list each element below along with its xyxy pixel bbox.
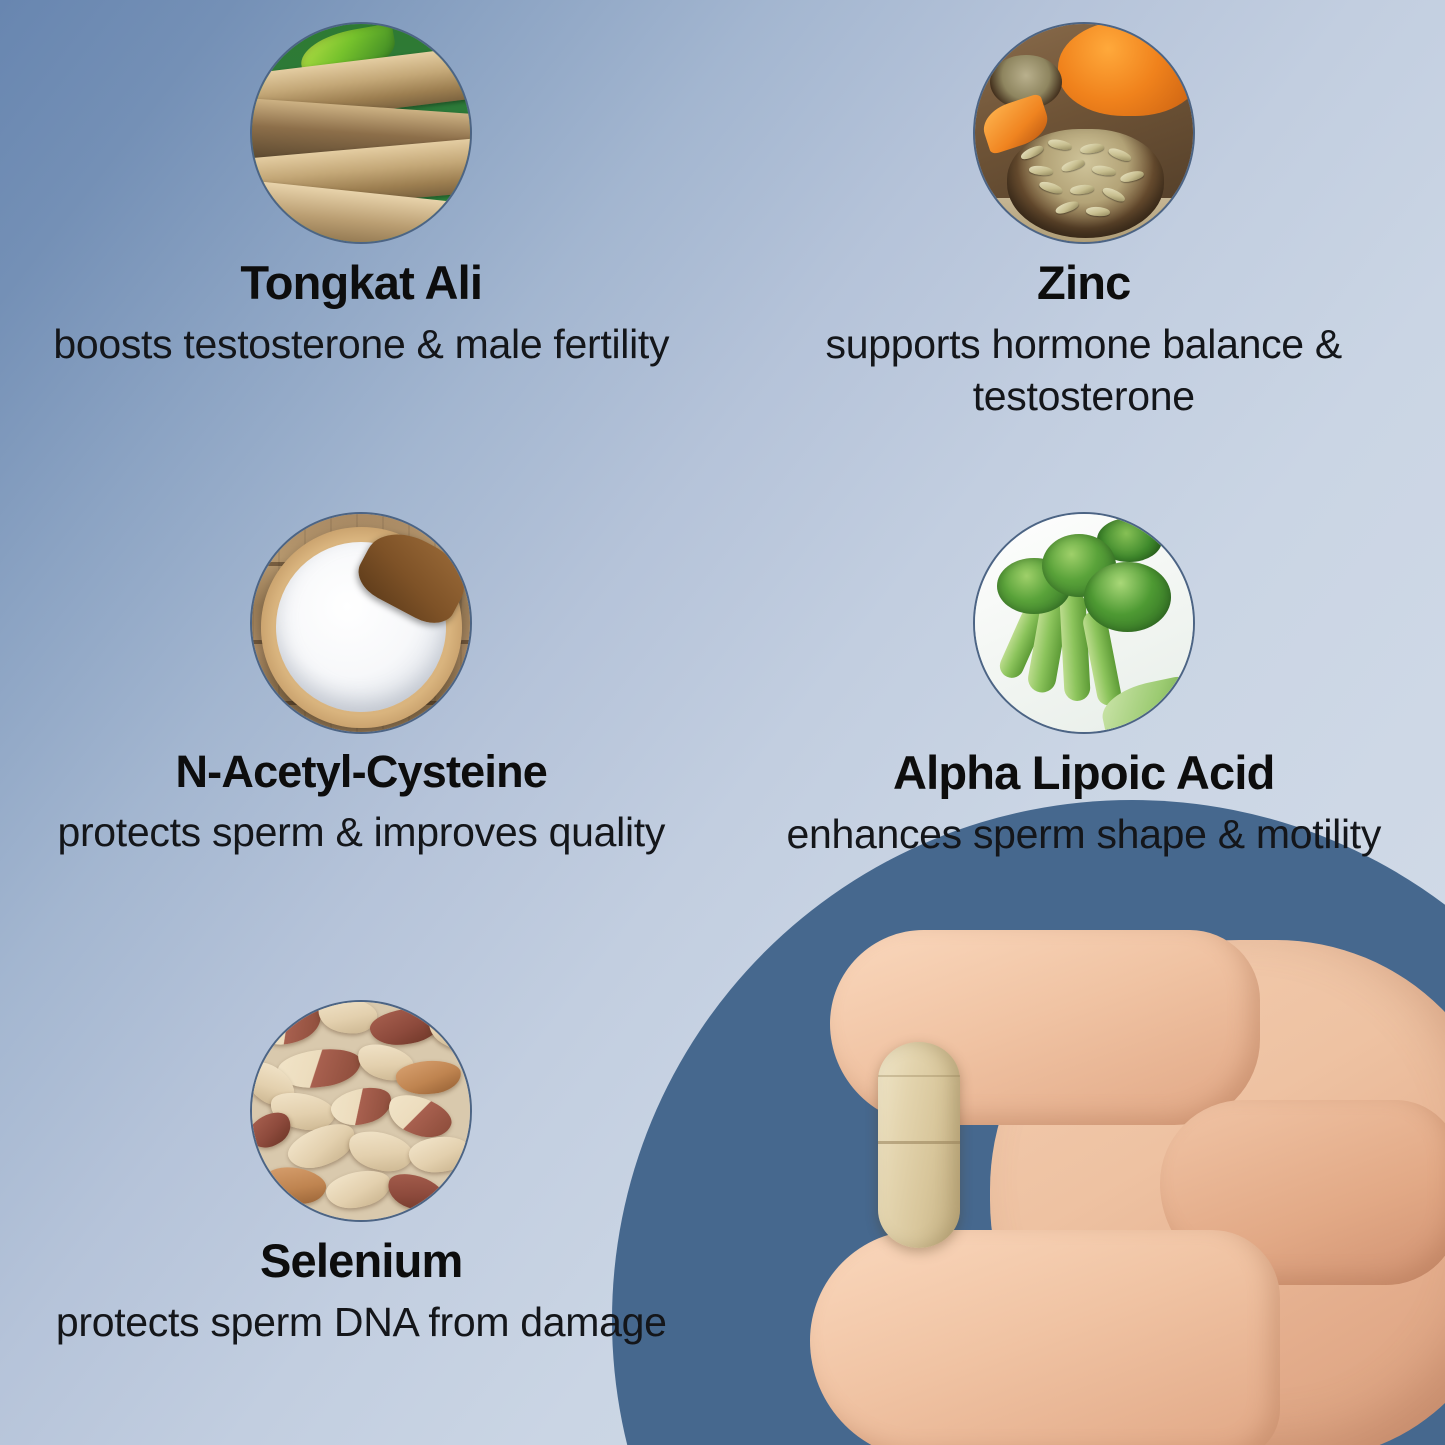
ingredient-name: Alpha Lipoic Acid [893, 749, 1275, 797]
broccoli-art [975, 514, 1193, 732]
zinc-image [973, 22, 1195, 244]
tongkat-ali-root-art [252, 24, 470, 242]
ingredient-name: N-Acetyl-Cysteine [175, 749, 547, 795]
ingredient-description: boosts testosterone & male fertility [53, 318, 669, 370]
tongkat-ali-image [250, 22, 472, 244]
ingredient-card-alpha-lipoic-acid: Alpha Lipoic Acid enhances sperm shape &… [723, 490, 1445, 978]
ingredient-card-zinc: Zinc supports hormone balance & testoste… [723, 0, 1445, 490]
ingredient-name: Tongkat Ali [240, 259, 482, 307]
pumpkin-seeds-art [975, 24, 1193, 242]
product-photo-cell [723, 978, 1445, 1445]
ingredient-card-tongkat-ali: Tongkat Ali boosts testosterone & male f… [0, 0, 723, 490]
alpha-lipoic-acid-image [973, 512, 1195, 734]
ingredient-card-selenium: Selenium protects sperm DNA from damage [0, 978, 723, 1445]
selenium-image [250, 1000, 472, 1222]
ingredient-card-n-acetyl-cysteine: N-Acetyl-Cysteine protects sperm & impro… [0, 490, 723, 978]
ingredient-infographic-poster: Tongkat Ali boosts testosterone & male f… [0, 0, 1445, 1445]
white-powder-bowl-art [252, 514, 470, 732]
ingredient-name: Selenium [260, 1237, 463, 1285]
n-acetyl-cysteine-image [250, 512, 472, 734]
ingredient-grid: Tongkat Ali boosts testosterone & male f… [0, 0, 1445, 1445]
brazil-nuts-art [252, 1002, 470, 1220]
ingredient-name: Zinc [1037, 259, 1130, 307]
ingredient-description: protects sperm DNA from damage [56, 1296, 667, 1348]
ingredient-description: enhances sperm shape & motility [786, 808, 1381, 860]
ingredient-description: protects sperm & improves quality [57, 806, 665, 858]
ingredient-description: supports hormone balance & testosterone [774, 318, 1394, 422]
